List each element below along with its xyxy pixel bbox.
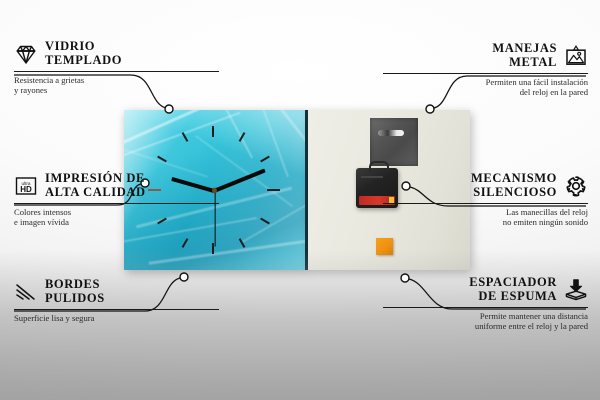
feature-desc-line1: Superficie lisa y segura [14, 313, 94, 323]
feature-bordes-pulidos: BORDES PULIDOS Superficie lisa y segura [14, 278, 219, 323]
feature-title-line2: METAL [509, 55, 557, 69]
feature-title-line1: IMPRESIÓN DE [45, 171, 145, 185]
feature-title-line2: DE ESPUMA [478, 289, 557, 303]
feature-divider [383, 307, 588, 308]
metal-hanger-plate [370, 118, 418, 166]
ultra-hd-icon: ultra HD [14, 174, 38, 198]
infographic-canvas: VIDRIO TEMPLADO Resistencia a grietas y … [0, 0, 600, 400]
feature-title-line1: ESPACIADOR [469, 275, 557, 289]
diamond-icon [14, 42, 38, 66]
feature-divider [383, 73, 588, 74]
hanger-slot [378, 130, 404, 136]
arrow-into-foam-icon [564, 278, 588, 302]
feature-divider [14, 71, 219, 72]
feature-desc-line1: Permiten una fácil instalación [486, 77, 588, 87]
feature-title-line2: SILENCIOSO [473, 185, 557, 199]
feature-manejas-metal: MANEJAS METAL Permiten una fácil instala… [383, 42, 588, 98]
polished-edge-icon [14, 280, 38, 304]
feature-desc-line1: Permite mantener una distancia [480, 311, 588, 321]
feature-title-line2: PULIDOS [45, 291, 105, 305]
feature-vidrio-templado: VIDRIO TEMPLADO Resistencia a grietas y … [14, 40, 219, 96]
feature-impresion-alta-calidad: ultra HD IMPRESIÓN DE ALTA CALIDAD Color… [14, 172, 219, 228]
mechanism-hook [369, 161, 389, 172]
feature-divider [383, 203, 588, 204]
feature-title-line2: TEMPLADO [45, 53, 122, 67]
feature-desc-line2: e imagen vívida [14, 217, 69, 227]
feature-mecanismo-silencioso: MECANISMO SILENCIOSO Las manecillas del … [383, 172, 588, 228]
feature-desc-line1: Colores intensos [14, 207, 71, 217]
feature-title-line1: MANEJAS [492, 41, 557, 55]
foam-spacer [376, 238, 393, 255]
feature-title-line1: MECANISMO [471, 171, 557, 185]
mechanism-detail [361, 176, 383, 178]
feature-espaciador-espuma: ESPACIADOR DE ESPUMA Permite mantener un… [383, 276, 588, 332]
framed-picture-icon [564, 44, 588, 68]
feature-title-line1: BORDES [45, 277, 100, 291]
feature-desc-line1: Las manecillas del reloj [506, 207, 588, 217]
feature-divider [14, 203, 219, 204]
feature-desc-line2: del reloj en la pared [520, 87, 588, 97]
feature-desc-line2: no emiten ningún sonido [503, 217, 588, 227]
feature-desc-line1: Resistencia a grietas [14, 75, 84, 85]
feature-title-line1: VIDRIO [45, 39, 95, 53]
gear-icon [564, 174, 588, 198]
feature-title-line2: ALTA CALIDAD [45, 185, 146, 199]
feature-divider [14, 309, 219, 310]
feature-desc-line2: uniforme entre el reloj y la pared [475, 321, 588, 331]
feature-desc-line2: y rayones [14, 85, 47, 95]
svg-text:HD: HD [20, 185, 32, 194]
